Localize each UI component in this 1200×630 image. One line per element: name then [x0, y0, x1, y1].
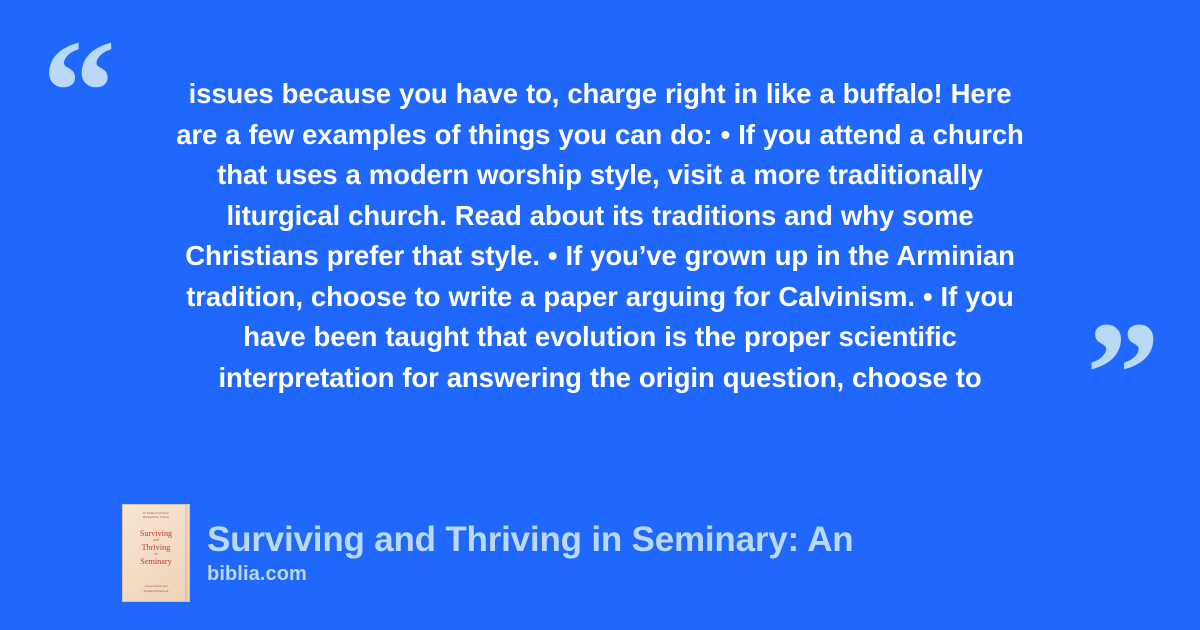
quote-line: issues because you have to, charge right… — [189, 78, 1012, 109]
book-cover-title-line-3: Seminary — [140, 557, 172, 566]
book-cover-authors: H. Daniel ZachariasBenjamin K. Forrest — [127, 511, 185, 520]
source-text-group: Surviving and Thriving in Seminary: An b… — [207, 520, 853, 585]
quote-card: “ issues because you have to, charge rig… — [0, 0, 1200, 630]
book-cover-subtitle: An Academic andSpiritual Handbook — [123, 584, 189, 593]
source-attribution: H. Daniel ZachariasBenjamin K. Forrest S… — [122, 504, 853, 602]
quote-line: are a few examples of things you can do:… — [176, 119, 1024, 150]
quote-text: issues because you have to, charge right… — [100, 74, 1100, 398]
quote-line: tradition, choose to write a paper argui… — [186, 281, 1014, 312]
close-quote-icon: ” — [1086, 300, 1160, 448]
source-site[interactable]: biblia.com — [207, 562, 853, 586]
quote-line: have been taught that evolution is the p… — [243, 321, 957, 352]
quote-line: Christians prefer that style. • If you’v… — [185, 240, 1015, 271]
quote-block: issues because you have to, charge right… — [100, 74, 1100, 398]
book-cover-title: Surviving and Thriving in Seminary — [140, 529, 172, 566]
quote-line: interpretation for answering the origin … — [218, 362, 981, 393]
quote-line: that uses a modern worship style, visit … — [217, 159, 983, 190]
source-title: Surviving and Thriving in Seminary: An — [207, 520, 853, 559]
book-cover-thumbnail: H. Daniel ZachariasBenjamin K. Forrest S… — [122, 504, 190, 602]
quote-line: liturgical church. Read about its tradit… — [226, 200, 973, 231]
